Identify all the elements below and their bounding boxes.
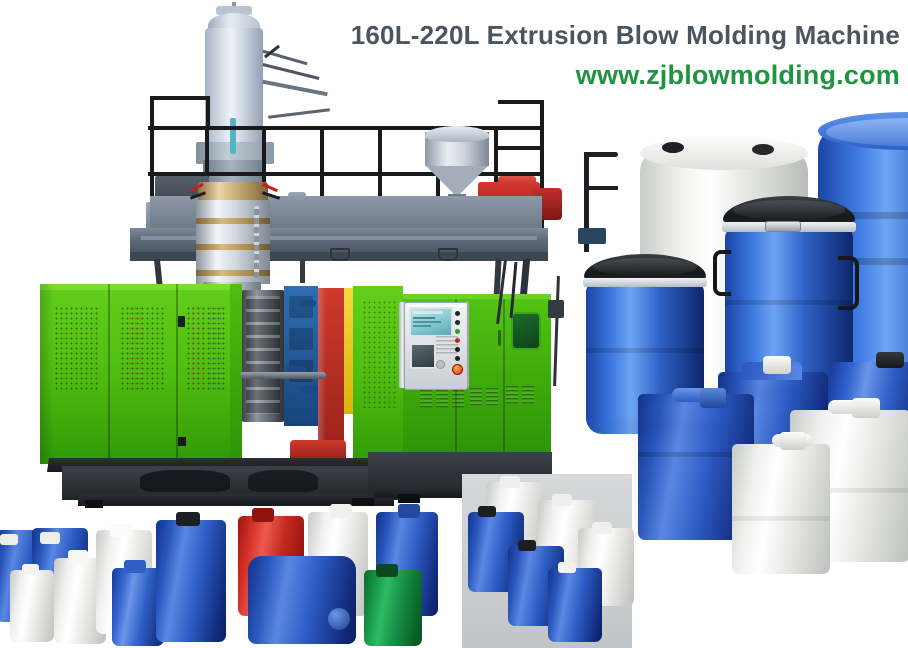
platen-hook-icon xyxy=(300,300,316,307)
control-button-black[interactable] xyxy=(455,311,460,316)
safety-strip-yellow xyxy=(344,288,353,414)
hydraulic-hose-icon xyxy=(268,108,330,119)
die-head-bolts xyxy=(254,206,259,278)
base-shadow-detail xyxy=(248,470,318,492)
can-cap-white xyxy=(500,476,520,488)
louver-vent xyxy=(420,390,432,408)
can-white-small xyxy=(10,570,54,642)
can-cap-white xyxy=(40,532,60,544)
platform-support-leg xyxy=(300,259,305,283)
tie-bar xyxy=(240,372,326,379)
can-cap-black xyxy=(176,512,200,526)
can-blue-wide-front xyxy=(248,556,356,644)
louver-vent xyxy=(506,386,518,404)
railing-mid-bar xyxy=(498,146,544,150)
vent-grille-left xyxy=(54,306,100,392)
hand-trolley-plate xyxy=(578,228,606,244)
platen-window xyxy=(289,328,313,350)
can-cap-red xyxy=(252,508,274,522)
keypad[interactable] xyxy=(436,336,458,354)
can-blue-front xyxy=(548,568,602,642)
cable-icon xyxy=(553,276,560,386)
tie-bar-bracket xyxy=(286,366,306,372)
can-cap-blue xyxy=(124,560,146,573)
railing-top-bar xyxy=(498,100,544,104)
selector-knob[interactable] xyxy=(436,360,445,369)
can-cap-black xyxy=(518,540,536,551)
deck-clamp-icon xyxy=(330,248,350,261)
can-cap-white xyxy=(330,504,352,518)
drum-side-handle xyxy=(713,250,731,296)
drum-clamp-ring xyxy=(583,278,707,287)
cabinet-top-highlight xyxy=(40,284,230,290)
can-green xyxy=(364,570,422,646)
banner-canvas: 160L-220L Extrusion Blow Molding Machine… xyxy=(0,0,908,648)
cabinet-latch[interactable] xyxy=(178,316,185,327)
sensor-rod-icon xyxy=(230,118,236,154)
louver-vent xyxy=(522,386,534,404)
railing-top-bar xyxy=(150,96,210,100)
can-cap-white xyxy=(852,398,880,418)
panel-seam xyxy=(503,299,505,456)
can-cap-black xyxy=(478,506,496,517)
hmi-text-line xyxy=(413,317,435,319)
can-cap-dark-green xyxy=(376,564,398,577)
panel-seam xyxy=(108,284,110,464)
drum-lid-inner xyxy=(733,200,845,220)
inspection-window xyxy=(511,312,541,350)
drum-lid-inner xyxy=(593,258,697,276)
control-button-green[interactable] xyxy=(455,329,460,334)
tank-top-surface xyxy=(640,136,808,170)
tank-bung-icon xyxy=(662,142,684,153)
can-blue-tall xyxy=(156,520,226,642)
can-cap-white xyxy=(592,522,612,534)
base-shadow-detail xyxy=(140,470,230,492)
hydraulic-hose-icon xyxy=(262,63,319,80)
can-cap-white xyxy=(68,550,88,563)
cabinet-latch[interactable] xyxy=(178,437,186,446)
hopper-rim-icon xyxy=(425,126,489,142)
drum-clamp-lever xyxy=(765,221,801,232)
control-button-black[interactable] xyxy=(455,320,460,325)
vent-grille-clamp xyxy=(362,300,396,408)
machine-foot xyxy=(352,498,374,506)
hmi-titlebar xyxy=(413,311,443,314)
deck-clamp-icon xyxy=(438,248,458,261)
cabinet-door-handle[interactable] xyxy=(498,330,501,346)
louver-vent xyxy=(436,390,448,408)
can-rib xyxy=(732,516,830,521)
can-cap-blue xyxy=(328,608,350,630)
can-cap-white xyxy=(22,564,39,575)
hmi-text-line xyxy=(413,325,431,327)
blow-molding-machine xyxy=(0,0,600,530)
machine-foot xyxy=(85,500,103,508)
louver-vent xyxy=(470,388,482,406)
louver-vent xyxy=(486,388,498,406)
railing-post xyxy=(150,96,154,130)
can-cap-white xyxy=(0,534,18,545)
cabinet-top-highlight xyxy=(403,294,551,299)
vent-grille-warm-overlay xyxy=(190,306,204,392)
ground-shadow xyxy=(600,420,720,436)
vent-grille-cool-overlay xyxy=(208,306,224,392)
can-cap-white xyxy=(763,356,791,374)
website-url: www.zjblowmolding.com xyxy=(576,60,900,91)
can-cap-white xyxy=(780,432,806,450)
hand-trolley-icon xyxy=(584,152,618,157)
louver-vent xyxy=(452,390,464,408)
can-cap-white xyxy=(558,562,576,573)
drum-rib xyxy=(725,300,853,305)
machine-foot xyxy=(398,494,420,503)
ground-shadow xyxy=(660,386,800,402)
cabinet-edge-shade xyxy=(40,284,54,464)
hand-trolley-icon xyxy=(584,186,618,190)
secondary-display[interactable] xyxy=(410,343,436,369)
hmi-text-line xyxy=(413,321,441,323)
hmi-display[interactable] xyxy=(409,307,453,337)
can-cap-blue xyxy=(398,504,420,518)
hydraulic-hose-icon xyxy=(262,80,328,97)
can-cap-black xyxy=(876,352,904,368)
vent-grille-warm-overlay xyxy=(128,306,144,392)
control-button-black[interactable] xyxy=(455,356,460,361)
drum-rib xyxy=(586,348,704,353)
railing-post xyxy=(206,96,210,130)
can-cap-white xyxy=(110,524,132,537)
mold-cavity-detail xyxy=(246,296,280,414)
die-head-top-flange xyxy=(198,182,268,202)
can-cap-white xyxy=(552,494,572,506)
can-white-front xyxy=(732,444,830,574)
emergency-stop-button[interactable] xyxy=(452,364,463,375)
tank-bung-icon xyxy=(752,144,774,155)
platen-hook-icon xyxy=(300,386,318,393)
junction-box xyxy=(548,300,564,318)
